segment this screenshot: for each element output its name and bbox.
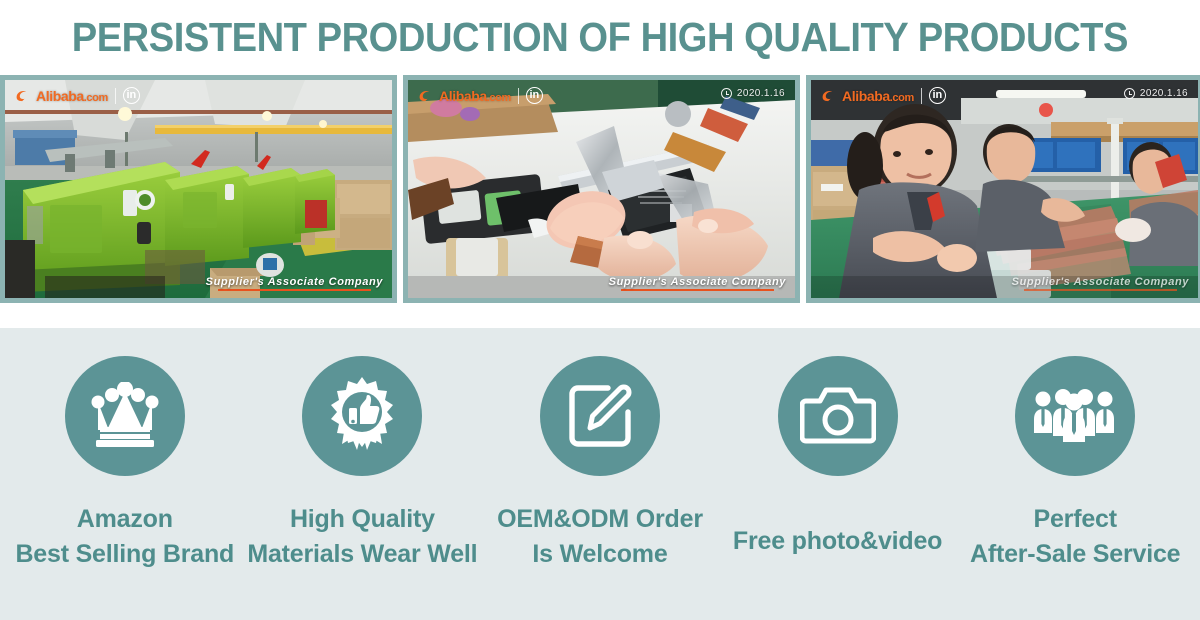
photo-timestamp: 2020.1.16 [721, 88, 785, 99]
feature-caption-line1: Free photo&video [733, 527, 942, 555]
feature-caption: Free photo&video [733, 524, 942, 559]
supplier-underline [621, 289, 774, 291]
feature-caption: Perfect After-Sale Service [970, 502, 1180, 571]
timestamp-text: 2020.1.16 [1140, 88, 1188, 99]
feature-caption-line1: Amazon [77, 505, 173, 533]
feature-item[interactable]: Free photo&video [719, 356, 957, 559]
feature-item[interactable]: OEM&ODM Order Is Welcome [481, 356, 719, 571]
feature-item[interactable]: Perfect After-Sale Service [956, 356, 1194, 571]
edit-pencil-square-icon [564, 380, 636, 452]
feature-caption-line2: Best Selling Brand [15, 537, 234, 572]
supplier-watermark: Supplier's Associate Company [609, 276, 786, 291]
photo-card-quality-inspection[interactable]: Alibaba.com in 2020.1.16 Supplier's Asso… [403, 75, 800, 303]
supplier-watermark: Supplier's Associate Company [206, 276, 383, 291]
quality-badge-thumbs-up-icon [324, 376, 400, 456]
timestamp-text: 2020.1.16 [737, 88, 785, 99]
feature-caption-line2: Is Welcome [497, 537, 703, 572]
feature-item[interactable]: High Quality Materials Wear Well [244, 356, 482, 571]
feature-caption-line2: Materials Wear Well [247, 537, 477, 572]
feature-caption: Amazon Best Selling Brand [15, 502, 234, 571]
camera-icon [800, 385, 876, 447]
supplier-underline [1024, 289, 1177, 291]
team-group-icon [1033, 386, 1117, 446]
page-title-bar: PERSISTENT PRODUCTION OF HIGH QUALITY PR… [0, 0, 1200, 74]
feature-icon-circle [1015, 356, 1135, 476]
feature-caption-line1: OEM&ODM Order [497, 505, 703, 533]
feature-icon-circle [540, 356, 660, 476]
promo-banner: PERSISTENT PRODUCTION OF HIGH QUALITY PR… [0, 0, 1200, 620]
photo-image-packing-line [811, 80, 1198, 298]
feature-icon-circle [302, 356, 422, 476]
feature-caption-line1: Perfect [1033, 505, 1116, 533]
feature-caption: High Quality Materials Wear Well [247, 502, 477, 571]
crown-icon [88, 382, 162, 450]
feature-icon-circle [65, 356, 185, 476]
feature-icon-circle [778, 356, 898, 476]
feature-caption: OEM&ODM Order Is Welcome [497, 502, 703, 571]
features-band: Amazon Best Selling Brand [0, 328, 1200, 620]
supplier-watermark: Supplier's Associate Company [1012, 276, 1189, 291]
page-title: PERSISTENT PRODUCTION OF HIGH QUALITY PR… [72, 14, 1128, 61]
clock-icon [1124, 88, 1135, 99]
feature-caption-line1: High Quality [290, 505, 435, 533]
photo-image-injection-molding [5, 80, 392, 298]
feature-item[interactable]: Amazon Best Selling Brand [6, 356, 244, 571]
photo-card-packing-line[interactable]: Alibaba.com in 2020.1.16 Supplier's Asso… [806, 75, 1200, 303]
photo-image-quality-inspection [408, 80, 795, 298]
supplier-underline [218, 289, 371, 291]
photo-card-injection-molding[interactable]: Alibaba.com in Supplier's Associate Comp… [0, 75, 397, 303]
features-list: Amazon Best Selling Brand [0, 328, 1200, 620]
photo-timestamp: 2020.1.16 [1124, 88, 1188, 99]
feature-caption-line2: After-Sale Service [970, 537, 1180, 572]
photo-gallery: Alibaba.com in Supplier's Associate Comp… [0, 75, 1200, 303]
clock-icon [721, 88, 732, 99]
